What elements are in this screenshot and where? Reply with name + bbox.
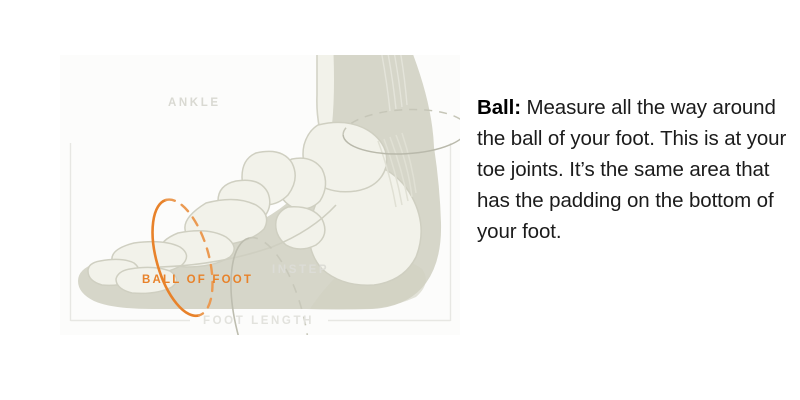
foot-measurement-illustration: ANKLE INSTEP BALL OF FOOT FOOT LENGTH Ba… [0,0,800,400]
ball-of-foot-label: BALL OF FOOT [142,274,253,286]
ankle-label: ANKLE [168,97,221,109]
foot-length-label: FOOT LENGTH [203,315,314,327]
foot-diagram-panel: ANKLE INSTEP BALL OF FOOT FOOT LENGTH [60,55,460,335]
foot-anatomy-diagram: ANKLE INSTEP BALL OF FOOT FOOT LENGTH [60,55,460,335]
description-lead-label: Ball: [477,96,521,119]
instep-label: INSTEP [272,264,329,276]
ball-measurement-description: Ball: Measure all the way around the bal… [477,92,787,247]
description-body-text: Measure all the way around the ball of y… [477,96,786,243]
description-panel: Ball: Measure all the way around the bal… [477,92,787,247]
